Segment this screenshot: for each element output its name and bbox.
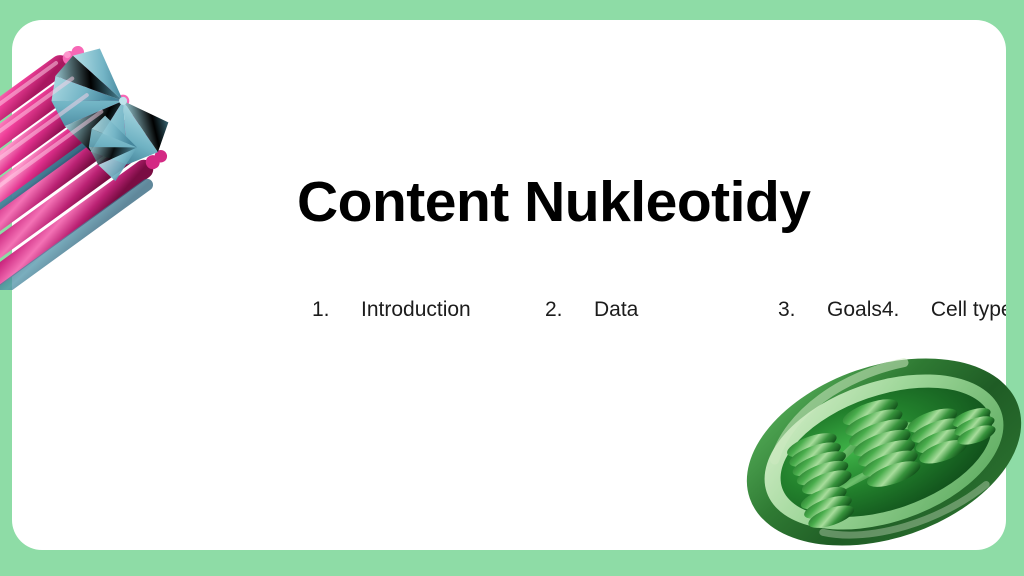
- list-item[interactable]: 4. Cell types: [882, 296, 1006, 344]
- list-item[interactable]: 1. Introduction: [312, 296, 545, 344]
- list-item-label: Data: [594, 296, 638, 324]
- list-item-number: 2.: [545, 296, 594, 324]
- list-item-label: Cell types: [931, 296, 1006, 324]
- agenda-list: 1. Introduction 2. Data 3. Goals 4. Cell…: [312, 296, 832, 344]
- list-item-label: Introduction: [361, 296, 471, 324]
- page-title: Content Nukleotidy: [297, 167, 947, 237]
- list-item-number: 4.: [882, 296, 931, 324]
- list-item[interactable]: 3. Goals: [778, 296, 882, 344]
- slide-card: Content Nukleotidy 1. Introduction 2. Da…: [12, 20, 1006, 550]
- slide-canvas: Content Nukleotidy 1. Introduction 2. Da…: [0, 0, 1024, 576]
- list-item-label: Goals: [827, 296, 882, 324]
- list-item-number: 3.: [778, 296, 827, 324]
- list-item-number: 1.: [312, 296, 361, 324]
- list-item[interactable]: 2. Data: [545, 296, 778, 344]
